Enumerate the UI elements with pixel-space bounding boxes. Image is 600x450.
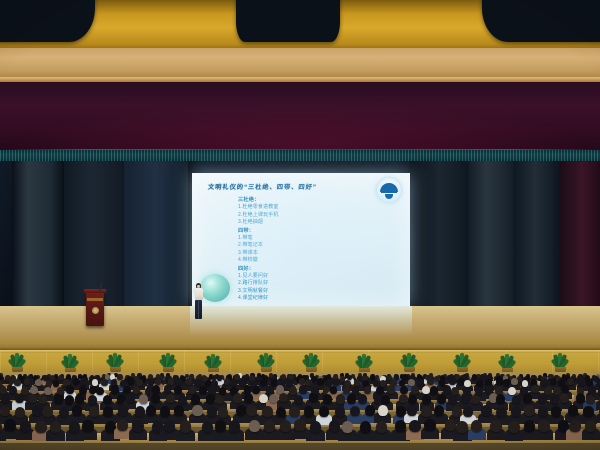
audience-member-head — [178, 395, 187, 405]
slide-list-item: 1.带笔 — [238, 235, 410, 242]
audience-member-head — [476, 380, 483, 387]
audience-member-head — [387, 385, 395, 393]
audience-member-head — [20, 420, 31, 432]
globe-icon — [200, 274, 230, 302]
stage-curtain-left-3 — [124, 161, 188, 310]
audience-member-head — [471, 395, 480, 405]
audience-member-head — [103, 395, 112, 405]
audience-member-head — [531, 385, 539, 393]
slide-body: 三杜绝： 1.杜绝零食进教室 2.杜绝上课玩手机 3.杜绝抽烟 四带： 1.带笔… — [238, 197, 410, 303]
audience-member-head — [496, 407, 506, 418]
audience-member-head — [427, 378, 434, 385]
potted-plant — [157, 352, 179, 372]
audience-member-head — [101, 379, 108, 386]
audience-member-head — [421, 406, 431, 417]
slide-list-item: 2.杜绝上课玩手机 — [238, 212, 410, 219]
audience-member-head — [43, 406, 53, 417]
audience-member-head — [4, 419, 15, 431]
audience-member-head — [0, 406, 10, 417]
ceiling — [0, 0, 600, 50]
audience-member-head — [191, 394, 200, 404]
potted-plant — [398, 352, 420, 372]
audience-member-head — [59, 407, 69, 418]
audience-member-head — [451, 387, 459, 395]
audience-member-head — [585, 420, 596, 432]
audience-member-head — [117, 374, 122, 380]
emblem-bar — [381, 191, 397, 193]
slide-group: 四好： 1.见人要问好 2.路行排队好 3.文明就餐好 4.课堂纪律好 — [238, 266, 410, 303]
audience-member-head — [422, 395, 431, 405]
lectern-band — [87, 298, 103, 301]
slide-group-heading: 四带： — [238, 228, 410, 235]
audience-member-head — [551, 406, 561, 417]
lectern-emblem-icon — [92, 307, 99, 314]
potted-plant — [300, 352, 322, 372]
audience-member-head — [538, 393, 547, 403]
audience-member-head — [495, 386, 503, 394]
audience-member-head — [350, 406, 360, 417]
stage-curtain-right-2 — [468, 161, 514, 310]
audience-member-head — [185, 378, 192, 385]
audience-member-head — [217, 375, 222, 381]
ceiling-panel-right — [482, 0, 600, 42]
slide-list-item: 4.带校徽 — [238, 257, 410, 264]
slide-group-heading: 四好： — [238, 266, 410, 273]
audience-member-head — [408, 395, 417, 405]
audience-member-head — [111, 385, 119, 393]
potted-plant — [202, 353, 224, 373]
audience-member-head — [82, 420, 93, 432]
ceiling-beam — [0, 48, 600, 80]
audience-member-head — [522, 380, 529, 387]
audience-member-head — [1, 394, 10, 404]
audience-member-head — [511, 406, 521, 417]
ceiling-panel-left — [0, 0, 95, 42]
audience-member-head — [538, 406, 548, 417]
stage-curtain-right-3 — [514, 161, 562, 310]
audience-member-head — [443, 385, 451, 393]
audience-member-head — [456, 421, 467, 433]
audience-member-head — [117, 419, 128, 431]
potted-plant — [6, 352, 28, 372]
potted-plant — [104, 352, 126, 372]
audience-member-head — [280, 420, 291, 432]
audience-member-head — [96, 387, 104, 395]
audience-member-head — [14, 379, 21, 386]
audience-member-head — [276, 407, 286, 418]
potted-plant — [353, 353, 375, 373]
audience-member-head — [481, 405, 491, 416]
upper-wall — [0, 82, 600, 152]
audience-member-head — [464, 380, 471, 387]
slide-list-item: 2.路行排队好 — [238, 280, 410, 287]
audience-member-head — [229, 420, 240, 432]
audience-member-head — [560, 393, 569, 403]
audience-member-head — [360, 421, 371, 433]
audience-member-head — [264, 420, 275, 432]
slide-list-item: 3.杜绝抽烟 — [238, 219, 410, 226]
audience-member-head — [424, 419, 435, 431]
audience-member-head — [215, 420, 226, 432]
audience-member-head — [538, 420, 549, 432]
audience-member-head — [136, 379, 143, 386]
potted-plant — [451, 352, 473, 372]
audience-member-head — [72, 405, 82, 416]
audience-member-head — [195, 379, 202, 386]
audience-member-head — [376, 421, 387, 433]
audience-member-head — [437, 394, 446, 404]
audience-member-head — [449, 378, 456, 385]
audience-member-head — [304, 406, 314, 417]
potted-plant — [496, 353, 518, 373]
audience-member-head — [365, 405, 375, 416]
presentation-slide: 文明礼仪的“三杜绝、四带、四好” 三杜绝： 1.杜绝零食进教室 2.杜绝上课玩手… — [192, 173, 410, 306]
audience-member-head — [568, 405, 578, 416]
audience-member-head — [133, 386, 141, 394]
audience-member-head — [53, 380, 60, 387]
audience-member-head — [249, 420, 260, 432]
slide-list-item: 2.带笔记本 — [238, 242, 410, 249]
auditorium-photo: 文明礼仪的“三杜绝、四带、四好” 三杜绝： 1.杜绝零食进教室 2.杜绝上课玩手… — [0, 0, 600, 450]
audience-member-head — [289, 406, 299, 417]
audience-member-head — [174, 405, 184, 416]
audience-member-head — [569, 420, 580, 432]
audience-member-head — [188, 386, 196, 394]
audience-member-head — [152, 385, 160, 393]
audience-member-head — [252, 386, 260, 394]
audience-member-head — [485, 385, 493, 393]
audience-member-head — [218, 407, 228, 418]
audience-member-head — [15, 394, 24, 404]
audience-member-head — [146, 405, 156, 416]
audience-member-head — [180, 420, 191, 432]
audience-member-head — [175, 378, 182, 385]
slide-group: 四带： 1.带笔 2.带笔记本 3.带课本 4.带校徽 — [238, 228, 410, 265]
audience-member-head — [24, 378, 31, 385]
audience-member-head — [88, 395, 97, 405]
stage-curtain-right-4 — [560, 161, 600, 310]
audience-member-head — [174, 386, 182, 394]
audience-member-head — [294, 419, 305, 431]
audience-member-head — [409, 420, 420, 432]
audience-member-head — [66, 385, 74, 393]
audience-member-head — [333, 379, 340, 386]
audience-member-head — [30, 386, 38, 394]
slide-list-item: 4.课堂纪律好 — [238, 295, 410, 302]
audience-member-head — [126, 393, 135, 403]
audience-member-head — [286, 379, 293, 386]
stage-valance — [0, 150, 600, 161]
audience-member-head — [550, 378, 557, 385]
audience-member-head — [38, 394, 47, 404]
audience-member-head — [354, 379, 361, 386]
audience-member-head — [358, 394, 367, 404]
presenter-leg-split — [198, 300, 199, 319]
stage-curtain-right-1 — [410, 161, 468, 310]
stage-curtain-left-1 — [12, 161, 64, 310]
audience-member-head — [430, 386, 438, 394]
audience-member-head — [461, 393, 470, 403]
audience-member-head — [417, 379, 424, 386]
slide-list-item: 1.杜绝零食进教室 — [238, 204, 410, 211]
audience-member-head — [524, 405, 534, 416]
audience-member-head — [523, 393, 532, 403]
audience-member-head — [166, 394, 175, 404]
audience-member-head — [103, 406, 113, 417]
audience-member-head — [139, 394, 148, 404]
audience-member-head — [9, 386, 17, 394]
audience-member-head — [35, 421, 46, 433]
audience-member-head — [496, 394, 505, 404]
audience-member-head — [294, 395, 303, 405]
audience-member-head — [583, 406, 593, 417]
audience-member-head — [317, 378, 324, 385]
audience-member-head — [463, 406, 473, 417]
audience-member-head — [411, 386, 419, 394]
school-emblem-icon — [377, 178, 401, 202]
stage-curtain-left-2 — [64, 161, 124, 310]
audience-member-head — [376, 386, 384, 394]
audience-member-head — [118, 405, 128, 416]
ceiling-panel-center — [236, 0, 340, 42]
audience-member-head — [80, 378, 87, 385]
audience-member-head — [319, 406, 329, 417]
audience-member-head — [508, 387, 516, 395]
potted-plant — [59, 353, 81, 373]
audience-member-head — [402, 374, 407, 380]
audience-member-head — [381, 395, 390, 405]
presenter-torso — [195, 288, 203, 300]
projection-screen: 文明礼仪的“三杜绝、四带、四好” 三杜绝： 1.杜绝零食进教室 2.杜绝上课玩手… — [192, 173, 410, 306]
presenter-legs — [195, 300, 202, 319]
audience-member-head — [471, 420, 482, 432]
audience-member-head — [54, 394, 63, 404]
audience-member-head — [472, 374, 477, 380]
audience-member-head — [342, 421, 353, 433]
potted-plant — [255, 352, 277, 372]
audience-member-head — [567, 378, 574, 385]
audience-seating — [0, 372, 600, 450]
audience-member-head — [246, 405, 256, 416]
audience-member-head — [586, 379, 593, 386]
audience-member-head — [75, 394, 84, 404]
audience-member-head — [15, 407, 25, 418]
audience-member-head — [309, 393, 318, 403]
audience-member-head — [586, 395, 595, 405]
slide-group: 三杜绝： 1.杜绝零食进教室 2.杜绝上课玩手机 3.杜绝抽烟 — [238, 197, 410, 227]
audience-member-head — [164, 420, 175, 432]
audience-member-head — [434, 405, 444, 416]
audience-member-head — [155, 378, 162, 385]
audience-member-head — [271, 379, 278, 386]
emblem-drop — [385, 194, 393, 199]
audience-member-head — [299, 385, 307, 393]
audience-member-head — [160, 406, 170, 417]
audience-member-head — [347, 394, 356, 404]
audience-member-head — [407, 405, 417, 416]
audience-member-head — [508, 421, 519, 433]
slide-list-item: 3.带课本 — [238, 250, 410, 257]
audience-member-head — [289, 386, 297, 394]
audience-member-head — [524, 420, 535, 432]
audience-member-head — [310, 421, 321, 433]
valance-fringe — [0, 150, 600, 161]
audience-member-head — [335, 406, 345, 417]
audience-member-head — [35, 379, 42, 386]
audience-member-head — [244, 393, 253, 403]
audience-member-head — [305, 379, 312, 386]
lectern-top — [84, 289, 106, 293]
potted-plant — [549, 352, 571, 372]
lectern — [86, 292, 104, 326]
audience-member-head — [541, 379, 548, 386]
audience-member-head — [490, 420, 501, 432]
audience-member-head — [408, 379, 415, 386]
audience-member-head — [511, 378, 518, 385]
audience-member-head — [219, 387, 227, 395]
audience-member-head — [132, 420, 143, 432]
audience-member-head — [262, 406, 272, 417]
audience-member-head — [50, 421, 61, 433]
audience-member-head — [192, 405, 202, 416]
audience-member-head — [323, 394, 332, 404]
audience-member-head — [89, 406, 99, 417]
audience-member-head — [395, 420, 406, 432]
audience-member-head — [260, 379, 267, 386]
audience-member-head — [330, 386, 338, 394]
audience-member-head — [378, 405, 388, 416]
